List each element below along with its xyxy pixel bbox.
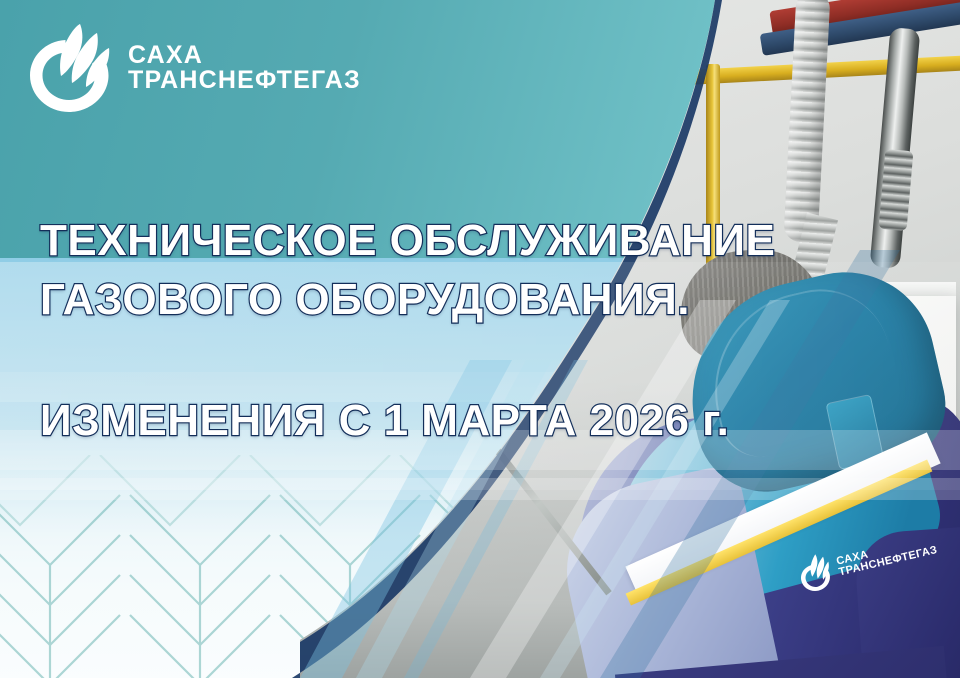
saha-flame-emblem-icon	[794, 551, 836, 596]
brand-logo-text: САХА ТРАНСНЕФТЕГАЗ	[128, 43, 361, 94]
jacket-logo-text: САХА ТРАНСНЕФТЕГАЗ	[835, 534, 938, 579]
headline-line-2: ГАЗОВОГО ОБОРУДОВАНИЯ.	[40, 271, 840, 330]
headline-block: ТЕХНИЧЕСКОЕ ОБСЛУЖИВАНИЕ ГАЗОВОГО ОБОРУД…	[40, 212, 840, 329]
brand-line-transneftegaz: ТРАНСНЕФТЕГАЗ	[128, 68, 361, 94]
brand-logo: САХА ТРАНСНЕФТЕГАЗ	[28, 22, 361, 114]
subheadline-text: ИЗМЕНЕНИЯ С 1 МАРТА 2026 г.	[40, 396, 900, 446]
subheadline-block: ИЗМЕНЕНИЯ С 1 МАРТА 2026 г.	[40, 396, 900, 446]
poster-canvas: САХА ТРАНСНЕФТЕГАЗ	[0, 0, 960, 678]
brand-line-saha: САХА	[128, 43, 361, 69]
saha-flame-emblem-icon	[28, 22, 112, 114]
headline-line-1: ТЕХНИЧЕСКОЕ ОБСЛУЖИВАНИЕ	[40, 212, 840, 271]
